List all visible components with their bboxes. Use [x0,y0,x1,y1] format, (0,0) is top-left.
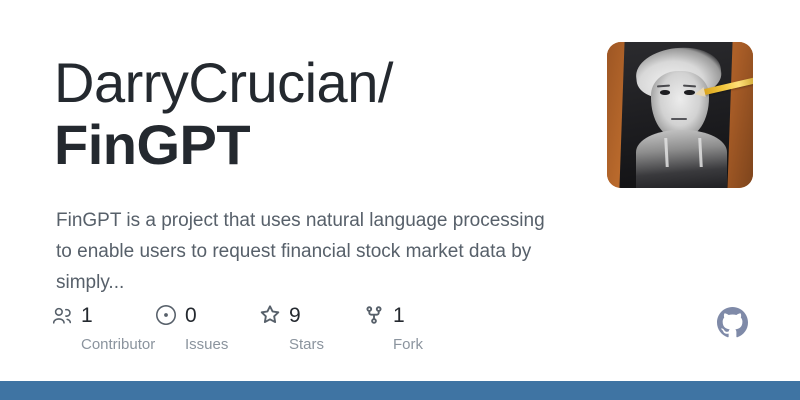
stat-issues: 0 Issues [156,303,260,353]
stat-issues-label: Issues [156,337,260,353]
stat-stars-value: 9 [289,305,301,326]
stat-stars-label: Stars [260,337,364,353]
stat-forks: 1 Fork [364,303,468,353]
avatar-mouth [671,118,687,120]
star-icon [260,305,280,325]
repository-name: FinGPT [54,114,584,176]
bottom-accent-bar [0,381,800,400]
repository-description: FinGPT is a project that uses natural la… [56,205,556,298]
repo-forked-icon [364,305,384,325]
repository-social-preview-card: DarryCrucian/ FinGPT FinGPT is a project… [0,0,800,400]
stat-issues-value: 0 [185,305,197,326]
avatar-collar [665,138,703,167]
stat-forks-label: Fork [364,337,468,353]
issue-opened-icon [156,305,176,325]
people-icon [52,305,72,325]
stat-contributors-value: 1 [81,305,93,326]
stat-stars: 9 Stars [260,303,364,353]
stat-stars-top: 9 [260,303,364,327]
stat-forks-top: 1 [364,303,468,327]
avatar-eye-right [684,90,694,95]
stat-contributors-label: Contributor [52,337,156,353]
owner-name: DarryCrucian/ [54,52,584,114]
stat-contributors: 1 Contributor [52,303,156,353]
avatar [607,42,753,188]
repository-stats: 1 Contributor 0 Issues 9 Stars [52,303,468,353]
page-title: DarryCrucian/ FinGPT [54,52,584,176]
avatar-eye-left [660,90,670,95]
pencil-tip [694,87,706,99]
stat-issues-top: 0 [156,303,260,327]
github-mark-icon [717,307,748,338]
stat-forks-value: 1 [393,305,405,326]
stat-contributors-top: 1 [52,303,156,327]
